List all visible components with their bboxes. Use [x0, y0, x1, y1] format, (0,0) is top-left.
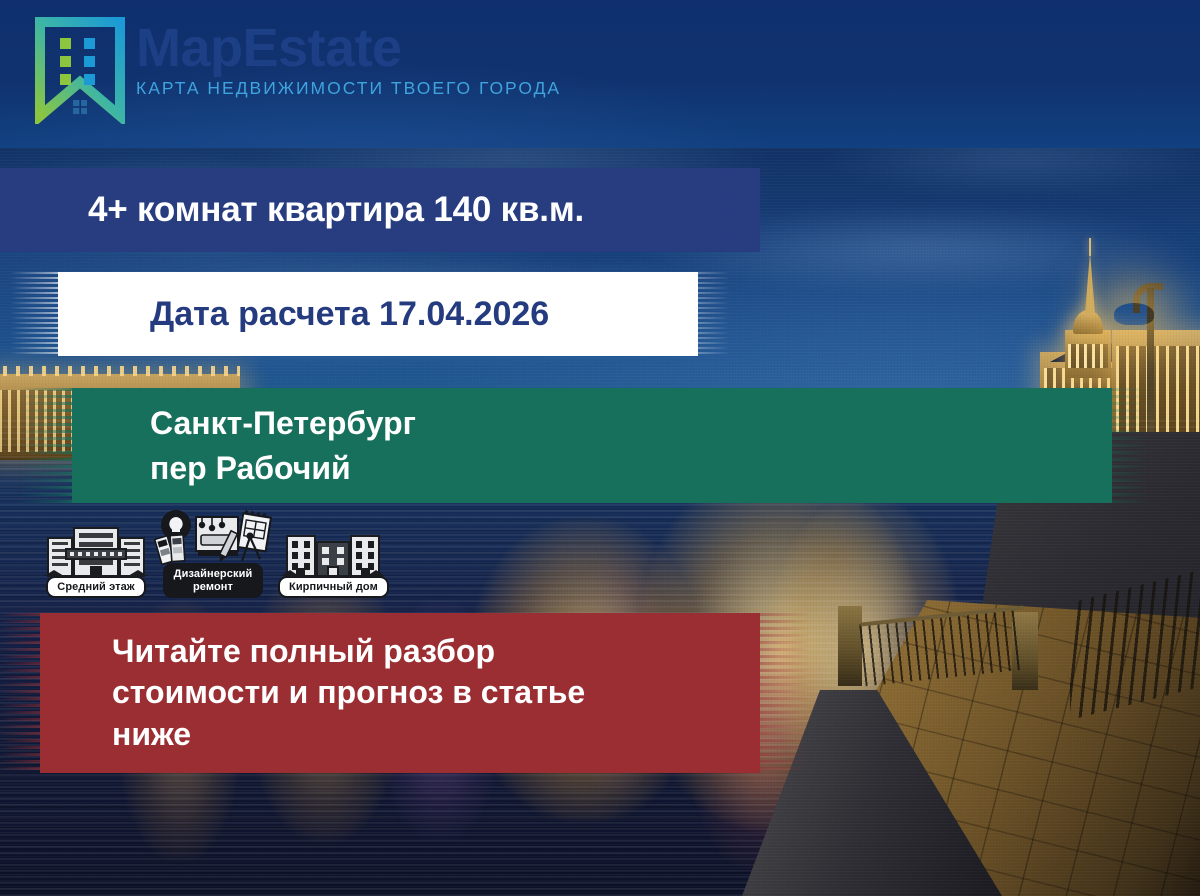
page-title: 4+ комнат квартира 140 кв.м. — [88, 168, 748, 252]
badge-label-line1: Дизайнерский — [174, 568, 253, 580]
header-bar: MapEstate КАРТА НЕДВИЖИМОСТИ ТВОЕГО ГОРО… — [0, 0, 1200, 148]
admiralty-spire — [1085, 252, 1095, 314]
address-block: Санкт-Петербург пер Рабочий — [150, 390, 950, 502]
cta-line-1: Читайте полный разбор — [112, 631, 772, 673]
brand-tagline: КАРТА НЕДВИЖИМОСТИ ТВОЕГО ГОРОДА — [136, 78, 561, 99]
cta-line-2: стоимости и прогноз в статье — [112, 672, 772, 714]
admiralty-tower-windows — [1068, 344, 1108, 368]
mid-floor-building-icon — [44, 522, 148, 580]
cta-line-3: ниже — [112, 714, 772, 756]
railing-pillar — [838, 606, 862, 686]
bookmark-building-logo-icon — [32, 16, 128, 124]
brick-house-icon — [281, 522, 385, 580]
brand-name: MapEstate — [136, 20, 561, 76]
address-band-brush-edge-right — [1040, 388, 1150, 503]
calculation-date: Дата расчета 17.04.2026 — [150, 272, 710, 356]
badge-designer-renovation[interactable]: Дизайнерский ремонт — [154, 509, 272, 598]
palace-roof-statues — [0, 366, 240, 376]
badge-brick-house[interactable]: Кирпичный дом — [278, 522, 389, 598]
badge-label-line2: ремонт — [193, 581, 233, 593]
designer-renovation-icon — [154, 509, 272, 567]
badge-mid-floor[interactable]: Средний этаж — [44, 522, 148, 598]
badge-label: Дизайнерский ремонт — [163, 563, 264, 598]
admiralty-needle — [1089, 238, 1091, 256]
street-lamp-light — [1114, 303, 1154, 325]
poster-canvas: MapEstate КАРТА НЕДВИЖИМОСТИ ТВОЕГО ГОРО… — [0, 0, 1200, 896]
address-city: Санкт-Петербург — [150, 404, 950, 443]
logo[interactable] — [32, 16, 128, 124]
brand-text: MapEstate КАРТА НЕДВИЖИМОСТИ ТВОЕГО ГОРО… — [136, 20, 561, 99]
cta-message: Читайте полный разбор стоимости и прогно… — [112, 615, 772, 771]
feature-badges: Средний этаж — [44, 518, 389, 598]
address-street: пер Рабочий — [150, 449, 950, 488]
